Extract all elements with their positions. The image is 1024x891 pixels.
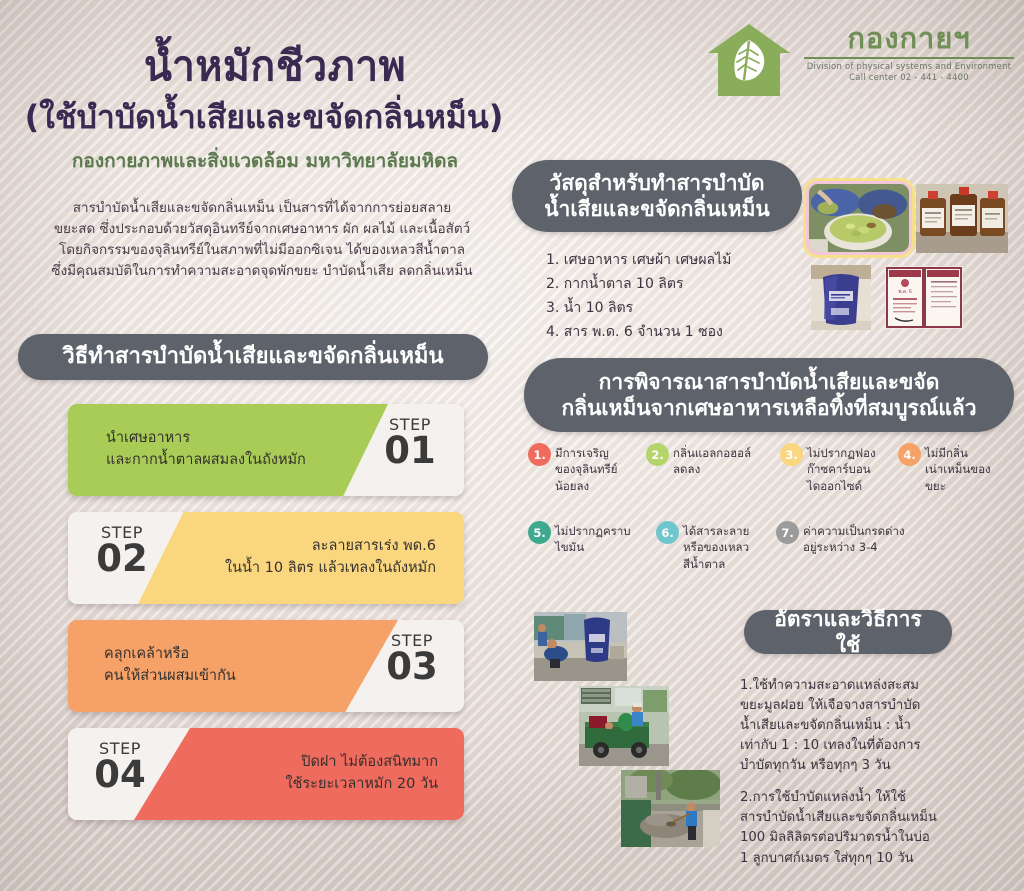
criteria-line: ไม่มีกลิ่น bbox=[925, 445, 991, 461]
step-description: ละลายสารเร่ง พด.6 ในน้ำ 10 ลิตร แล้วเทลง… bbox=[166, 512, 436, 604]
intro-paragraph: สารบำบัดน้ำเสียและขจัดกลิ่นเหม็น เป็นสาร… bbox=[22, 198, 502, 282]
step-text-line-1: ปิดฝา ไม่ต้องสนิทมาก bbox=[301, 752, 438, 774]
criteria-line: ของจุลินทรีย์ bbox=[555, 461, 618, 477]
step-card-04: ปิดฝา ไม่ต้องสนิทมาก ใช้ระยะเวลาหมัก 20 … bbox=[68, 728, 464, 820]
criteria-item-7: 7. ค่าความเป็นกรดด่าง อยู่ระหว่าง 3-4 bbox=[776, 520, 936, 556]
criteria-list: 1. มีการเจริญ ของจุลินทรีย์ น้อยลง 2. กล… bbox=[528, 442, 1024, 588]
criteria-text: ค่าความเป็นกรดด่าง อยู่ระหว่าง 3-4 bbox=[803, 520, 905, 556]
yard-cleaning-photo bbox=[621, 770, 720, 847]
intro-line-1: สารบำบัดน้ำเสียและขจัดกลิ่นเหม็น เป็นสาร… bbox=[22, 198, 502, 219]
step-number: 01 bbox=[364, 432, 456, 471]
logo-thai-name: กองกายฯ bbox=[802, 24, 1016, 53]
logo: กองกายฯ Division of physical systems and… bbox=[706, 22, 1016, 102]
blue-barrel-photo bbox=[811, 265, 871, 330]
logo-text-block: กองกายฯ Division of physical systems and… bbox=[802, 24, 1016, 85]
criteria-item-6: 6. ได้สารละลาย หรือของเหลว สีน้ำตาล bbox=[656, 520, 766, 572]
step-card-03: คลุกเคล้าหรือ คนให้ส่วนผสมเข้ากัน STEP 0… bbox=[68, 620, 464, 712]
step-number-block: STEP 01 bbox=[364, 416, 456, 470]
criteria-line: เน่าเหม็นของ bbox=[925, 461, 991, 477]
list-item: 2. กากน้ำตาล 10 ลิตร bbox=[546, 272, 796, 296]
list-item: 1. เศษอาหาร เศษผ้า เศษผลไม้ bbox=[546, 248, 796, 272]
materials-section-header: วัสดุสำหรับทำสารบำบัด น้ำเสียและขจัดกลิ่… bbox=[512, 160, 802, 232]
criteria-line: สีน้ำตาล bbox=[683, 556, 749, 572]
usage-line: น้ำเสียและขจัดกลิ่นเหม็น : น้ำ bbox=[740, 716, 1000, 736]
svg-text:พ.ด. 6: พ.ด. 6 bbox=[898, 289, 912, 295]
criteria-number-badge: 4. bbox=[898, 443, 921, 466]
criteria-line: มีการเจริญ bbox=[555, 445, 618, 461]
usage-instructions: 1.ใช้ทำความสะอาดแหล่งสะสม ขยะมูลฝอย ให้เ… bbox=[740, 664, 1000, 881]
step-text-line-2: และกากน้ำตาลผสมลงในถังหมัก bbox=[106, 450, 306, 472]
food-scraps-photo bbox=[806, 181, 912, 255]
criteria-line: ไขมัน bbox=[555, 539, 631, 555]
usage-line: บำบัดทุกวัน หรือทุกๆ 3 วัน bbox=[740, 756, 1000, 776]
page-subtitle: (ใช้บำบัดน้ำเสียและขจัดกลิ่นหม็น) bbox=[14, 100, 514, 135]
criteria-line: อยู่ระหว่าง 3-4 bbox=[803, 539, 905, 555]
list-item: 4. สาร พ.ด. 6 จำนวน 1 ซอง bbox=[546, 320, 796, 344]
criteria-number-badge: 5. bbox=[528, 521, 551, 544]
criteria-text: ไม่มีกลิ่น เน่าเหม็นของ ขยะ bbox=[925, 442, 991, 494]
criteria-number-badge: 3. bbox=[780, 443, 803, 466]
truck-photo bbox=[579, 686, 669, 766]
considerations-section-header: การพิจารณาสารบำบัดน้ำเสียและขจัด กลิ่นเห… bbox=[524, 358, 1014, 432]
criteria-item-4: 4. ไม่มีกลิ่น เน่าเหม็นของ ขยะ bbox=[898, 442, 1008, 494]
criteria-line: หรือของเหลว bbox=[683, 539, 749, 555]
criteria-line: ได้สารละลาย bbox=[683, 523, 749, 539]
step-description: ปิดฝา ไม่ต้องสนิทมาก ใช้ระยะเวลาหมัก 20 … bbox=[166, 728, 438, 820]
logo-callcenter-line: Call center 02 - 441 - 4400 bbox=[802, 73, 1016, 84]
step-text-line-1: ละลายสารเร่ง พด.6 bbox=[312, 536, 436, 558]
logo-division-line: Division of physical systems and Environ… bbox=[802, 62, 1016, 73]
criteria-line: ค่าความเป็นกรดด่าง bbox=[803, 523, 905, 539]
criteria-item-5: 5. ไม่ปรากฏคราบ ไขมัน bbox=[528, 520, 648, 556]
criteria-text: กลิ่นแอลกอฮอล์ ลดลง bbox=[673, 442, 751, 478]
step-number: 04 bbox=[74, 756, 166, 795]
step-number-block: STEP 02 bbox=[76, 524, 168, 578]
criteria-number-badge: 6. bbox=[656, 521, 679, 544]
step-card-01: นำเศษอาหาร และกากน้ำตาลผสมลงในถังหมัก ST… bbox=[68, 404, 464, 496]
criteria-line: ลดลง bbox=[673, 461, 751, 477]
liquid-bottles-photo bbox=[916, 184, 1008, 253]
criteria-text: ได้สารละลาย หรือของเหลว สีน้ำตาล bbox=[683, 520, 749, 572]
step-number: 02 bbox=[76, 540, 168, 579]
criteria-text: ไม่ปรากฏฟอง ก๊าซคาร์บอน ไดออกไซด์ bbox=[807, 442, 876, 494]
intro-line-3: โดยกิจกรรมของจุลินทรีย์ในสภาพที่ไม่มีออก… bbox=[22, 240, 502, 261]
usage-line: สารบำบัดน้ำเสียและขจัดกลิ่นเหม็น bbox=[740, 808, 1000, 828]
usage-line: ขยะมูลฝอย ให้เจือจางสารบำบัด bbox=[740, 696, 1000, 716]
criteria-item-3: 3. ไม่ปรากฏฟอง ก๊าซคาร์บอน ไดออกไซด์ bbox=[780, 442, 890, 494]
usage-section-header: อัตราและวิธีการใช้ bbox=[744, 610, 952, 654]
method-section-header: วิธีทำสารบำบัดน้ำเสียและขจัดกลิ่นเหม็น bbox=[18, 334, 488, 380]
materials-header-line-1: วัสดุสำหรับทำสารบำบัด bbox=[544, 170, 770, 196]
step-description: นำเศษอาหาร และกากน้ำตาลผสมลงในถังหมัก bbox=[106, 404, 366, 496]
criteria-line: ก๊าซคาร์บอน bbox=[807, 461, 876, 477]
considerations-header-line-2: กลิ่นเหม็นจากเศษอาหารเหลือทิ้งที่สมบูรณ์… bbox=[561, 395, 976, 421]
organization-name: กองกายภาพและสิ่งแวดล้อม มหาวิทยาลัยมหิดล bbox=[40, 146, 490, 176]
materials-header-line-2: น้ำเสียและขจัดกลิ่นเหม็น bbox=[544, 196, 770, 222]
water-tank-photo bbox=[534, 612, 627, 681]
criteria-line: ขยะ bbox=[925, 478, 991, 494]
step-number-block: STEP 04 bbox=[74, 740, 166, 794]
intro-line-2: ขยะสด ซึ่งประกอบด้วยวัสดุอินทรีย์จากเศษอ… bbox=[22, 219, 502, 240]
materials-list: 1. เศษอาหาร เศษผ้า เศษผลไม้ 2. กากน้ำตาล… bbox=[546, 248, 796, 344]
criteria-text: มีการเจริญ ของจุลินทรีย์ น้อยลง bbox=[555, 442, 618, 494]
criteria-text: ไม่ปรากฏคราบ ไขมัน bbox=[555, 520, 631, 556]
step-text-line-2: ในน้ำ 10 ลิตร แล้วเทลงในถังหมัก bbox=[225, 558, 436, 580]
criteria-line: ไดออกไซด์ bbox=[807, 478, 876, 494]
criteria-item-2: 2. กลิ่นแอลกอฮอล์ ลดลง bbox=[646, 442, 771, 478]
usage-line: 100 มิลลิลิตรต่อปริมาตรน้ำในบ่อ bbox=[740, 828, 1000, 848]
step-text-line-1: นำเศษอาหาร bbox=[106, 428, 190, 450]
step-number-block: STEP 03 bbox=[366, 632, 458, 686]
usage-line: เท่ากับ 1 : 10 เทลงในที่ต้องการ bbox=[740, 736, 1000, 756]
criteria-number-badge: 2. bbox=[646, 443, 669, 466]
step-text-line-2: คนให้ส่วนผสมเข้ากัน bbox=[104, 666, 236, 688]
usage-line: 1.ใช้ทำความสะอาดแหล่งสะสม bbox=[740, 676, 1000, 696]
logo-divider bbox=[804, 57, 1014, 59]
usage-line: 2.การใช้บำบัดแหล่งน้ำ ให้ใช้ bbox=[740, 788, 1000, 808]
intro-line-4: ซึ่งมีคุณสมบัติในการทำความสะอาดจุดพักขยะ… bbox=[22, 261, 502, 282]
page-title: น้ำหมักชีวภาพ bbox=[60, 44, 490, 88]
step-text-line-1: คลุกเคล้าหรือ bbox=[104, 644, 189, 666]
considerations-header-line-1: การพิจารณาสารบำบัดน้ำเสียและขจัด bbox=[561, 369, 976, 395]
criteria-number-badge: 1. bbox=[528, 443, 551, 466]
step-text-line-2: ใช้ระยะเวลาหมัก 20 วัน bbox=[285, 774, 438, 796]
criteria-line: ไม่ปรากฏคราบ bbox=[555, 523, 631, 539]
infographic-page: น้ำหมักชีวภาพ (ใช้บำบัดน้ำเสียและขจัดกลิ… bbox=[0, 0, 1024, 891]
list-item: 3. น้ำ 10 ลิตร bbox=[546, 296, 796, 320]
criteria-number-badge: 7. bbox=[776, 521, 799, 544]
house-leaf-icon bbox=[706, 22, 792, 100]
step-card-02: ละลายสารเร่ง พด.6 ในน้ำ 10 ลิตร แล้วเทลง… bbox=[68, 512, 464, 604]
step-number: 03 bbox=[366, 648, 458, 687]
step-description: คลุกเคล้าหรือ คนให้ส่วนผสมเข้ากัน bbox=[104, 620, 369, 712]
criteria-line: ไม่ปรากฏฟอง bbox=[807, 445, 876, 461]
product-sachets-photo: พ.ด. 6 bbox=[885, 266, 963, 329]
criteria-line: น้อยลง bbox=[555, 478, 618, 494]
criteria-line: กลิ่นแอลกอฮอล์ bbox=[673, 445, 751, 461]
criteria-item-1: 1. มีการเจริญ ของจุลินทรีย์ น้อยลง bbox=[528, 442, 638, 494]
usage-line: 1 ลูกบาศก์เมตร ใส่ทุกๆ 10 วัน bbox=[740, 849, 1000, 869]
